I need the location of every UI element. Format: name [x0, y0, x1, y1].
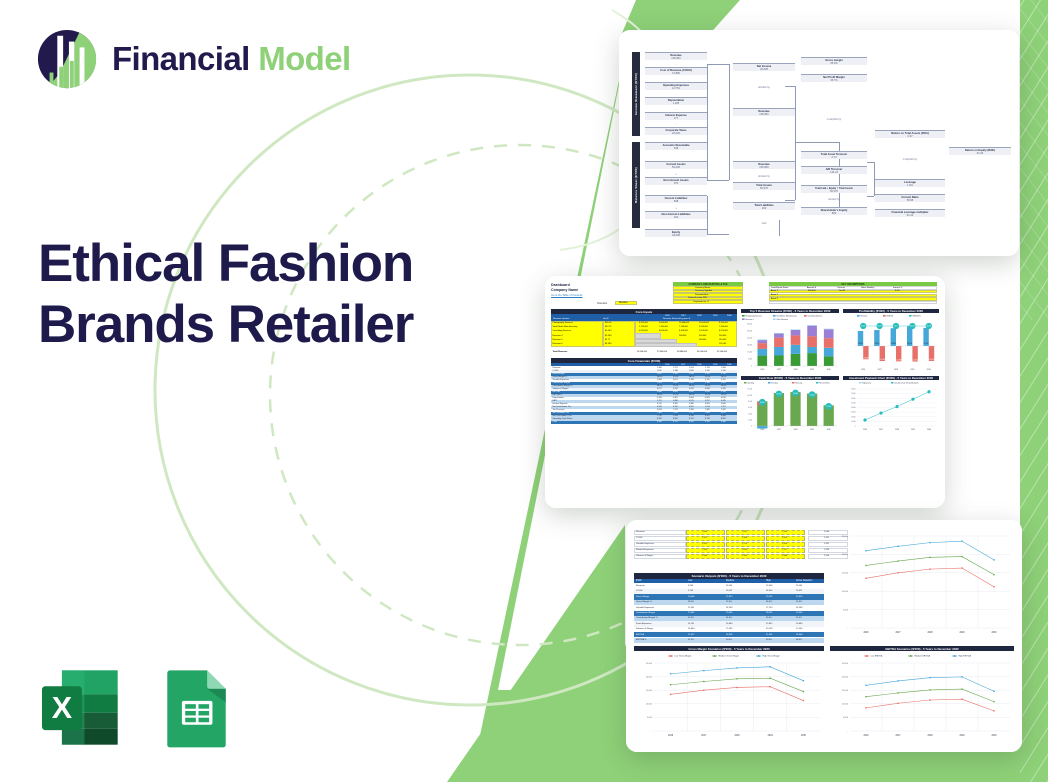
svg-text:2028: 2028 — [794, 369, 798, 371]
svg-text:Revenue: Revenue — [861, 316, 868, 318]
svg-text:Consulting Services: Consulting Services — [807, 315, 822, 318]
sc-out-value: 11,812 — [796, 590, 802, 592]
dupont-analysis-screenshot[interactable]: Income Statement ($'000) Balance Sheet (… — [619, 30, 1019, 256]
sc-out-value: 18,308 — [796, 634, 802, 636]
svg-text:2029: 2029 — [910, 369, 914, 371]
core-row-label: Revenue 4 — [553, 335, 563, 337]
core-cell: 5,750,000 — [639, 326, 648, 328]
dupont-node: Total Liabilities949 — [733, 202, 795, 210]
svg-text:43.3%: 43.3% — [927, 326, 932, 328]
core-row-label: Photography Services — [553, 322, 573, 324]
core-cell: 8,250,000 — [719, 322, 728, 324]
dupont-node: Return on Total Assets (ROA)2.97 — [875, 130, 945, 138]
core-row-unit: $12.25 — [605, 326, 611, 328]
dupont-node: Total Liab + Equity = Total Assets50,576 — [801, 185, 867, 193]
sc-out-label: Contribution Margin — [636, 612, 655, 614]
brand-logo[interactable]: Financial Model — [36, 28, 351, 90]
key-col-4: Interest % — [893, 287, 902, 289]
brand-word-model: Model — [258, 40, 350, 77]
svg-text:43.2%: 43.2% — [877, 326, 882, 328]
sc-out-value: 14,405 — [766, 590, 772, 592]
svg-text:26,200: 26,200 — [858, 343, 863, 345]
svg-text:0: 0 — [751, 366, 752, 368]
svg-text:20,000: 20,000 — [842, 676, 849, 678]
hero-column: Financial Model Ethical Fashion Brands R… — [0, 0, 470, 782]
sc-out-label: Gross Margin — [636, 596, 649, 598]
svg-text:X: X — [52, 691, 73, 725]
currency-row-label: Denomination — [695, 294, 709, 296]
sc-top-value: 1,097 — [742, 531, 747, 533]
core-cell: 11,059,000 — [699, 322, 709, 324]
page-title: Ethical Fashion Brands Retailer — [38, 233, 438, 355]
sc-out-value: 12,624 — [726, 596, 732, 598]
core-year: 2027 — [681, 315, 686, 317]
sc-top-value: 2,341 — [742, 555, 747, 557]
sc-top-value: 1,719 — [742, 543, 747, 545]
sc-col: Medium — [726, 580, 734, 582]
svg-text:44.3%: 44.3% — [861, 326, 866, 328]
svg-text:10,500: 10,500 — [810, 394, 815, 396]
sc-out-value: 15,060 — [796, 612, 802, 614]
cf-year: 2029 — [713, 364, 717, 366]
currency-row-label: Currency Symbol — [695, 290, 712, 292]
svg-text:46%: 46% — [894, 326, 898, 328]
dupont-node: Shareholder's Equity800 — [801, 207, 867, 215]
core-row-label: Small Batch Manufacturing — [553, 326, 578, 328]
sc-top-active: 1,933 — [824, 549, 829, 551]
svg-text:Small Batch Manufacturing: Small Batch Manufacturing — [776, 315, 796, 318]
svg-text:Payback year: Payback year — [862, 381, 872, 384]
sc-out-value: 14,131 — [688, 623, 694, 625]
svg-text:36,000: 36,000 — [747, 324, 752, 326]
dupont-node: Revenue136,800 — [733, 108, 795, 116]
sc-out-label: Fixed Expenses — [636, 623, 652, 625]
svg-text:12,000: 12,000 — [747, 352, 752, 354]
svg-text:2030: 2030 — [827, 369, 831, 371]
cf-year: 2027 — [681, 364, 685, 366]
circular-bar-chart-logo-icon — [36, 28, 98, 90]
sc-out-value: 48.0% — [796, 639, 802, 641]
core-stream-hdr: Revenue streams — [553, 318, 569, 320]
dupont-node: Gross margin65.0% — [801, 57, 867, 65]
dupont-node: Operating Expenses12,754 — [645, 82, 707, 90]
svg-text:2026: 2026 — [863, 429, 867, 431]
core-cell: 9,000,000 — [659, 322, 668, 324]
sc-out-value: 55.0% — [688, 617, 694, 619]
svg-text:2027: 2027 — [777, 429, 781, 431]
sc-out-value: 55.0% — [796, 601, 802, 603]
dupont-node-roe: Return on Equity (ROE)61.03 — [949, 147, 1011, 155]
core-cell: 500,000 — [699, 335, 706, 337]
svg-text:Revenue 4: Revenue 4 — [745, 319, 753, 321]
dupont-node: Non-Current Assets570 — [645, 177, 707, 185]
cf-year: 2026 — [665, 364, 669, 366]
core-year: 2030 — [727, 315, 732, 317]
svg-text:5,000: 5,000 — [843, 609, 849, 611]
sc-top-value: 2,030 — [742, 549, 747, 551]
svg-text:25,000: 25,000 — [646, 663, 653, 665]
sc-out-value: 17,496 — [726, 628, 732, 630]
cf-cell: 8,952 — [689, 421, 694, 423]
core-total-label: Total Revenue — [553, 351, 568, 353]
svg-text:-13,266: -13,266 — [863, 357, 869, 359]
svg-text:2029: 2029 — [959, 735, 965, 737]
key-row-value: 6.0% — [895, 290, 900, 292]
sc-col-label: $'000 — [636, 580, 642, 582]
svg-text:2026: 2026 — [863, 632, 869, 634]
cash-flow-chart-title: Cash Flow ($'000) - 5 Years to December … — [741, 376, 839, 380]
profitability-chart[interactable]: RevenueEBITDAEBITDA %26,200-13,266202627… — [843, 314, 939, 372]
cf-cell: 8,775 — [673, 421, 678, 423]
svg-text:31,500: 31,500 — [924, 343, 929, 345]
dupont-node: Total Asset Turnover2.70 — [801, 151, 867, 159]
svg-text:80,000: 80,000 — [851, 389, 855, 391]
svg-text:Other Revenue: Other Revenue — [776, 318, 788, 321]
svg-text:2030: 2030 — [927, 429, 931, 431]
dupont-node: Corporate Taxes20,626 — [645, 127, 707, 135]
sc-col: High — [766, 580, 771, 582]
dupont-node: Current Ratio58.98 — [875, 194, 945, 202]
core-cell: 10,368,000 — [679, 322, 689, 324]
sc-top-label: Related Expenses — [636, 549, 654, 551]
cf-cell: 8,598 — [657, 421, 662, 423]
core-year: 2029 — [713, 315, 718, 317]
dupont-operator: multiplied by — [801, 118, 867, 121]
svg-text:2030: 2030 — [827, 429, 831, 431]
core-cell: 508,000 — [679, 335, 686, 337]
sc-top-label: COGS — [636, 537, 642, 539]
svg-text:15,000: 15,000 — [842, 690, 849, 692]
svg-text:10,000: 10,000 — [842, 591, 849, 593]
sc-top-label: Salaries & Wages — [636, 555, 653, 557]
svg-text:45.2%: 45.2% — [910, 326, 915, 328]
balance-sheet-band: Balance Sheet ($'000) — [632, 142, 640, 228]
key-row-label: Asset 2 — [771, 294, 778, 296]
cash-flow-chart[interactable]: OperatingInvestingFinancingNet Cash Flow… — [741, 381, 839, 436]
core-total: 34,550,000 — [697, 351, 707, 353]
sc-out-value: 11,932 — [688, 607, 694, 609]
svg-text:70,000: 70,000 — [851, 393, 855, 395]
core-row-label: Revenue 6 — [553, 343, 563, 345]
sc-out-value: 12,665 — [688, 612, 694, 614]
core-cell: 7,300,000 — [659, 326, 668, 328]
key-col-0: Loan/Export Name — [771, 287, 788, 289]
core-inputs-blank — [635, 343, 697, 347]
svg-text:6,000: 6,000 — [748, 359, 752, 361]
svg-text:Photography Services: Photography Services — [745, 315, 762, 318]
gross-margin-scenarios-chart[interactable]: Low Gross MarginMedium Gross MarginHigh … — [634, 651, 824, 743]
svg-text:2030: 2030 — [927, 369, 931, 371]
sc-out-value: 11,812 — [726, 590, 732, 592]
key-row-label: Asset 1 — [771, 290, 778, 292]
sc-out-value: 11,000 — [726, 585, 732, 587]
sc-top-value: 1,194 — [782, 531, 787, 533]
investment-payback-chart[interactable]: Payback yearCumulative Cash Generated (S… — [843, 381, 939, 436]
cf-row-label: Cash — [553, 421, 558, 423]
svg-text:2026: 2026 — [863, 735, 869, 737]
sc-top-label: Revenue — [636, 531, 645, 533]
svg-text:2026: 2026 — [668, 735, 674, 737]
svg-text:6,700: 6,700 — [827, 406, 831, 408]
currency-row-label: General sector D/R — [688, 297, 707, 299]
svg-text:10,000: 10,000 — [747, 395, 752, 397]
core-cell: 4,925,000 — [639, 330, 648, 332]
svg-text:10,000: 10,000 — [842, 704, 849, 706]
sc-out-value: 18,025 — [766, 612, 772, 614]
sc-top-value: 1,816 — [782, 543, 787, 545]
sc-top-value: 1,311 — [702, 537, 707, 539]
core-row-label: Revenue 5 — [553, 339, 563, 341]
svg-text:30,000: 30,000 — [851, 412, 855, 414]
core-row-label: Consulting Services — [553, 330, 571, 332]
svg-text:10,700: 10,700 — [776, 394, 781, 396]
svg-text:6,000: 6,000 — [748, 407, 752, 409]
svg-text:15,000: 15,000 — [646, 690, 653, 692]
cf-cell: 9,306 — [721, 421, 726, 423]
cf-year: 2028 — [697, 364, 701, 366]
svg-text:34,550: 34,550 — [907, 343, 912, 345]
dupont-node: Leverage1.9% — [875, 179, 945, 187]
svg-text:Net Cash Flow: Net Cash Flow — [819, 381, 830, 384]
sc-out-value: 56.0% — [766, 601, 772, 603]
svg-text:10,000: 10,000 — [851, 421, 855, 423]
key-col-2: Currents — [837, 287, 845, 289]
sc-top-label: Variable Expenses — [636, 543, 654, 545]
core-cell: 8,108,000 — [679, 330, 688, 332]
dupont-operator: Add — [733, 222, 795, 225]
sc-out-value: 50.0% — [726, 639, 732, 641]
svg-text:2027: 2027 — [895, 735, 901, 737]
sc-out-value: 10,466 — [688, 596, 694, 598]
google-sheets-icon — [154, 665, 239, 750]
dupont-operator: divided by — [733, 86, 795, 89]
svg-text:2029: 2029 — [768, 735, 774, 737]
svg-text:2027: 2027 — [777, 369, 781, 371]
key-assumptions-row[interactable] — [769, 301, 937, 304]
sc-out-value: 15,060 — [726, 612, 732, 614]
sc-out-value: 16,684 — [796, 623, 802, 625]
cf-year: 2030 — [727, 364, 731, 366]
scenario-label: Scenario — [597, 302, 607, 305]
dupont-operator: divided by — [733, 175, 795, 178]
svg-text:50,000: 50,000 — [851, 402, 855, 404]
microsoft-excel-icon: X — [38, 665, 123, 750]
ebitda-scenarios-chart[interactable]: Low EBITDAMedium EBITDAHigh EBITDA-5,000… — [830, 651, 1014, 743]
sc-out-value: 19,835 — [766, 623, 772, 625]
svg-text:2026: 2026 — [760, 369, 764, 371]
key-row-value: Jan-31 — [839, 290, 845, 292]
sc-top-value: 1,000 — [702, 531, 707, 533]
core-forecast-hdr: Revenue Forecast by years $ — [663, 318, 690, 320]
core-cell: 9,250,000 — [699, 330, 708, 332]
svg-text:5,000: 5,000 — [843, 717, 849, 719]
sc-top-active: 1,311 — [824, 537, 829, 539]
core-cell: 5,250,000 — [699, 326, 708, 328]
dashboard-toc-link[interactable]: Go to the Table of Contents — [551, 294, 583, 297]
svg-text:Medium Gross Margin: Medium Gross Margin — [719, 655, 740, 658]
dupont-node: A/R Turnover144.24 — [801, 166, 867, 174]
svg-text:2028: 2028 — [894, 369, 898, 371]
sc-top-value: 2,127 — [782, 549, 787, 551]
svg-text:2030: 2030 — [991, 632, 997, 634]
sc-out-value: 51.0% — [688, 639, 694, 641]
svg-text:20,000: 20,000 — [646, 676, 653, 678]
core-total: 31,500,000 — [717, 351, 727, 353]
sc-out-value: 52.0% — [796, 617, 802, 619]
svg-text:25,000: 25,000 — [842, 536, 849, 538]
svg-text:18,000: 18,000 — [747, 345, 752, 347]
dupont-operator: multiplied by — [875, 158, 945, 161]
svg-text:2028: 2028 — [794, 429, 798, 431]
svg-text:8,000: 8,000 — [748, 401, 752, 403]
svg-text:2029: 2029 — [810, 369, 814, 371]
svg-text:-: - — [847, 628, 848, 630]
scenario-analysis-screenshot[interactable]: Revenue1,0001,0971,1941,000COGS1,3111,40… — [626, 520, 1022, 752]
scenario-top-right-chart[interactable]: -5,00010,00015,00020,00025,0002026202720… — [830, 530, 1014, 640]
dupont-node: Non-Current Liabilities100 — [645, 211, 707, 219]
dupont-node: Net Income46,628 — [733, 63, 795, 71]
svg-text:2026: 2026 — [760, 429, 764, 431]
svg-text:2027: 2027 — [878, 369, 882, 371]
dashboard-screenshot[interactable]: Dashboard Company Name Go to the Table o… — [545, 276, 945, 508]
sc-top-value: 1,933 — [702, 549, 707, 551]
dupont-node: Interest Expense177 — [645, 112, 707, 120]
sc-out-value: 15,597 — [688, 634, 694, 636]
svg-text:8,000: 8,000 — [760, 402, 764, 404]
sc-out-label: EBITDA % — [636, 639, 646, 641]
core-cell: 8,250,000 — [719, 330, 728, 332]
svg-text:-: - — [651, 731, 652, 733]
svg-text:2028: 2028 — [895, 429, 899, 431]
sc-out-value: 17,120 — [766, 607, 772, 609]
svg-text:30,880: 30,880 — [891, 343, 896, 345]
sc-top-active: 2,244 — [824, 555, 829, 557]
svg-text:2029: 2029 — [911, 429, 915, 431]
dupont-node: Current Assets50,006 — [645, 161, 707, 169]
file-format-icons: X — [38, 665, 239, 750]
dupont-node: Total Assets50,576 — [733, 182, 795, 190]
svg-text:2,000: 2,000 — [748, 419, 752, 421]
core-year: 2026 — [665, 315, 670, 317]
core-row-unit: $5.180 — [605, 330, 611, 332]
core-row-unit: $4.180 — [605, 343, 611, 345]
sc-out-label: Gross Margin % — [636, 601, 652, 603]
income-statement-band: Income Statement ($'000) — [632, 52, 640, 136]
cf-cell: 9,129 — [705, 421, 710, 423]
svg-text:Financing: Financing — [795, 382, 802, 384]
core-year: 2028 — [697, 315, 702, 317]
currency-row-label: Corporate tax % — [693, 301, 709, 303]
sc-out-value: 16,684 — [726, 623, 732, 625]
svg-text:-15,546: -15,546 — [912, 360, 918, 362]
sc-out-value: 14,248 — [796, 607, 802, 609]
svg-text:EBITDA %: EBITDA % — [913, 315, 921, 318]
sc-top-value: 1,408 — [742, 537, 747, 539]
svg-text:High Gross Margin: High Gross Margin — [763, 655, 781, 658]
sc-out-value: 14,864 — [688, 628, 694, 630]
sc-out-value: 53.0% — [766, 617, 772, 619]
sc-top-value: 1,622 — [702, 543, 707, 545]
sc-out-value: 20,740 — [766, 628, 772, 630]
sc-out-value: 14,248 — [726, 607, 732, 609]
core-cell: 8,000,000 — [659, 330, 668, 332]
sc-top-active: 1,000 — [824, 531, 829, 533]
sc-out-value: 13,500 — [766, 585, 772, 587]
svg-text:11,000: 11,000 — [793, 393, 798, 395]
svg-text:EBITDA: EBITDA — [887, 315, 894, 318]
sc-out-value: 17,496 — [796, 628, 802, 630]
revenue-chart-title: Top 5 Revenue Streams ($'000) - 5 Years … — [741, 309, 839, 313]
svg-text:-: - — [847, 731, 848, 733]
sc-out-label: Revenue — [636, 585, 645, 587]
svg-text:15,000: 15,000 — [842, 573, 849, 575]
svg-text:High EBITDA: High EBITDA — [959, 655, 972, 658]
key-col-1: Amount $ — [807, 287, 816, 289]
svg-text:2027: 2027 — [879, 429, 883, 431]
sc-out-value: 12,624 — [796, 596, 802, 598]
core-cell: 8,925,000 — [639, 322, 648, 324]
svg-text:-15,009: -15,009 — [880, 359, 886, 361]
key-row-label: Asset 3 — [771, 298, 778, 300]
sc-out-label: COGS — [636, 590, 642, 592]
sc-out-value: 58.0% — [688, 601, 694, 603]
svg-text:60,000: 60,000 — [851, 398, 855, 400]
svg-text:20,000: 20,000 — [851, 416, 855, 418]
sc-out-value: 11,000 — [796, 585, 802, 587]
dupont-node: Net Profit Margin35.7% — [801, 74, 867, 82]
core-cell: 7,350,000 — [719, 326, 728, 328]
svg-text:12,000: 12,000 — [747, 389, 752, 391]
dashboard-title: Dashboard — [551, 283, 570, 287]
svg-text:2026: 2026 — [861, 369, 865, 371]
sc-top-value: 2,438 — [782, 555, 787, 557]
sc-out-value: 15,310 — [766, 596, 772, 598]
svg-text:30,000: 30,000 — [747, 331, 752, 333]
svg-text:2030: 2030 — [991, 735, 997, 737]
dupont-node: Equity49,628 — [645, 229, 707, 237]
svg-text:4,000: 4,000 — [748, 413, 752, 415]
svg-text:2028: 2028 — [927, 735, 933, 737]
sc-top-value: 2,244 — [702, 555, 707, 557]
core-cell: 112,000 — [719, 343, 726, 345]
top-5-revenue-streams-chart[interactable]: Photography ServicesSmall Batch Manufact… — [741, 314, 839, 372]
core-total: 27,800,000 — [657, 351, 667, 353]
core-cell: 7,748,000 — [679, 326, 688, 328]
core-row-unit: $69.00 — [605, 322, 611, 324]
sc-out-label: Variable Expenses — [636, 607, 654, 609]
scenario-value: Medium — [619, 301, 628, 304]
dupont-node: Accounts Receivable948 — [645, 142, 707, 150]
svg-text:5,000: 5,000 — [647, 717, 653, 719]
dupont-node: Financial Leverage multiplier61.22 — [875, 209, 945, 217]
core-total: 26,200,000 — [637, 351, 647, 353]
sc-out-label: Contribution Margin % — [636, 617, 658, 619]
currency-row-label: Currency Name — [695, 287, 710, 289]
core-total: 30,880,000 — [677, 351, 687, 353]
svg-text:Investing: Investing — [771, 381, 777, 384]
core-unit-hdr: Unit $ — [603, 318, 608, 320]
svg-text:Medium EBITDA: Medium EBITDA — [915, 655, 931, 658]
sc-out-label: Salaries & Wages — [636, 628, 653, 630]
dupont-node: Cost of Revenue (COGS)47,880 — [645, 67, 707, 75]
sc-top-value: 1,505 — [782, 537, 787, 539]
sc-out-value: 57.0% — [726, 601, 732, 603]
svg-text:25,000: 25,000 — [842, 663, 849, 665]
sc-col: Active Selection — [796, 580, 812, 582]
core-cell: 180,000 — [699, 339, 706, 341]
core-row-unit: $1.77 — [605, 339, 610, 341]
sc-out-value: 54.0% — [726, 617, 732, 619]
